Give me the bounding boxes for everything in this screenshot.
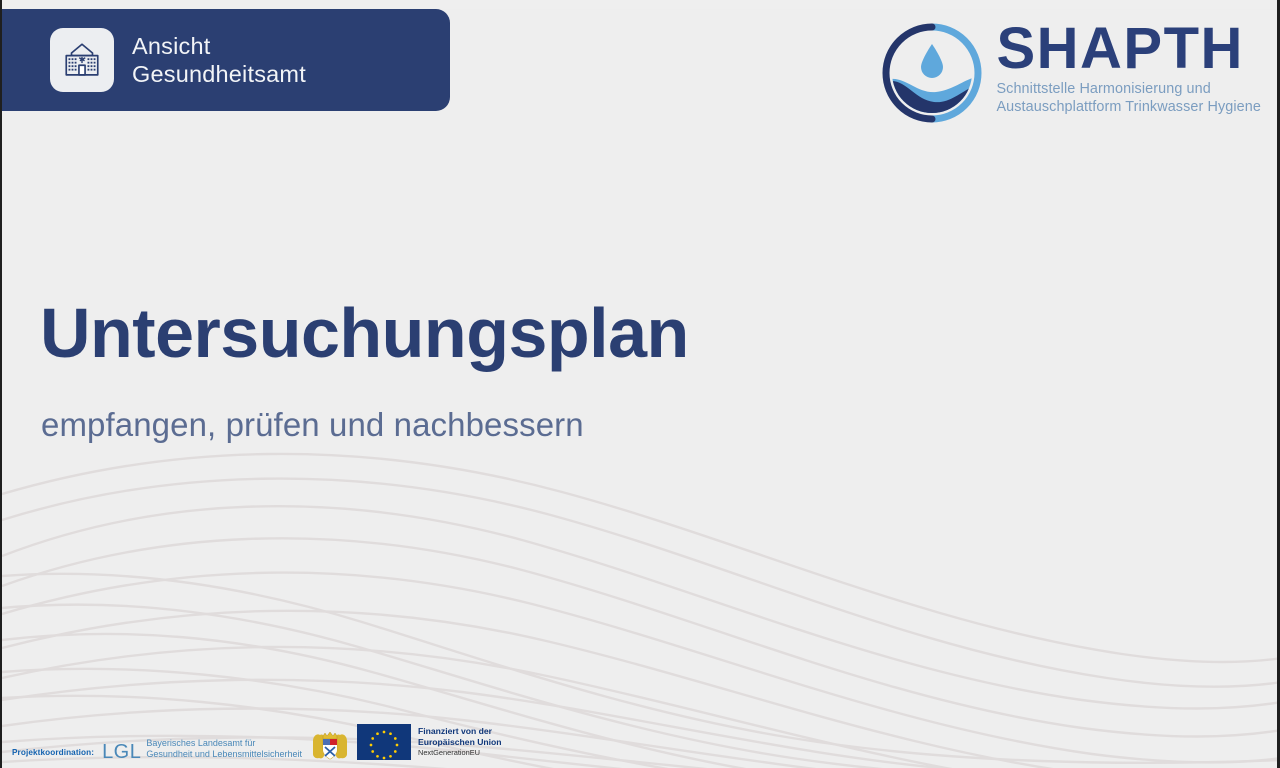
lgl-wordmark: LGL [102,743,141,762]
page-title: Untersuchungsplan [40,290,689,376]
eu-funding-logo: Finanziert von der Europäischen Union Ne… [357,724,502,760]
eu-funding-text: Finanziert von der Europäischen Union [418,726,502,746]
view-context-bar[interactable]: Ansicht Gesundheitsamt [0,9,450,111]
view-context-label: Ansicht Gesundheitsamt [132,32,306,88]
shapth-wordmark: SHAPTH [996,18,1261,80]
shapth-tagline: Schnittstelle Harmonisierung und Austaus… [996,81,1261,116]
eu-programme-name: NextGenerationEU [418,748,502,758]
lgl-logo: LGL Bayerisches Landesamt für Gesundheit… [102,738,302,760]
project-coordination-label: Projektkoordination: [12,748,94,758]
slide-top-strip [2,0,1280,9]
eu-flag-icon [357,724,411,760]
footer-credits: Projektkoordination: LGL Bayerisches Lan… [12,724,502,762]
water-drop-circle-logo [880,18,984,133]
lgl-fullname: Bayerisches Landesamt für Gesundheit und… [146,738,302,760]
hospital-building-icon [61,39,103,81]
shapth-logo: SHAPTH Schnittstelle Harmonisierung und … [880,16,1261,133]
presentation-slide: Ansicht Gesundheitsamt SHAPTH [0,0,1280,768]
bavaria-coat-of-arms-icon [311,731,349,761]
health-office-icon-container [50,28,114,92]
title-block: Untersuchungsplan empfangen, prüfen und … [40,290,689,446]
page-subtitle: empfangen, prüfen und nachbessern [41,404,689,446]
